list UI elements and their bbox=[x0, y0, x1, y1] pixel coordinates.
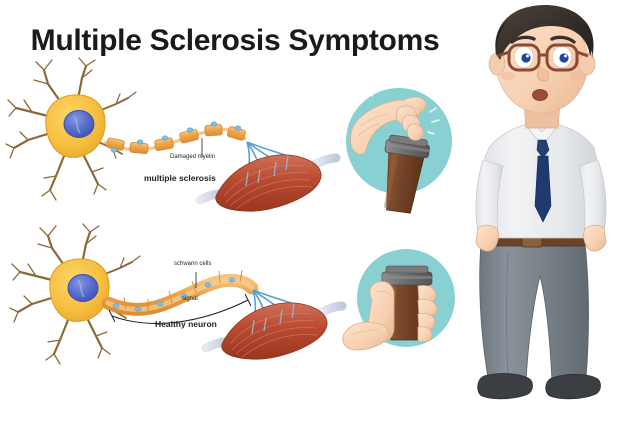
holding-cup-illustration bbox=[343, 249, 455, 350]
man-character bbox=[476, 5, 606, 399]
artwork-svg bbox=[0, 0, 626, 428]
dropping-cup-illustration bbox=[346, 88, 452, 215]
muscle-fiber-ms bbox=[200, 155, 336, 211]
left-pupil bbox=[521, 53, 530, 62]
nucleus-ms bbox=[64, 111, 94, 138]
right-hand bbox=[584, 225, 606, 251]
healthy-myelin bbox=[108, 270, 252, 312]
signal-label: signal bbox=[182, 296, 198, 302]
trousers bbox=[480, 243, 589, 382]
healthy-neuron-caption: Healthy neuron bbox=[155, 319, 217, 329]
left-shoe bbox=[478, 374, 533, 399]
nucleus-healthy bbox=[68, 275, 98, 302]
ms-neuron-group bbox=[6, 58, 336, 211]
mouth bbox=[533, 90, 548, 101]
right-pupil bbox=[559, 53, 568, 62]
illustration-canvas: Multiple Sclerosis Symptoms bbox=[0, 0, 626, 428]
left-ear bbox=[489, 53, 505, 75]
ms-caption: multiple sclerosis bbox=[144, 173, 216, 183]
schwann-cells-label: schwann cells bbox=[174, 261, 211, 267]
healthy-neuron-group bbox=[10, 224, 342, 364]
damaged-myelin-label: Damaged myelin bbox=[170, 154, 215, 160]
damaged-myelin bbox=[104, 122, 246, 154]
right-shoe bbox=[546, 374, 601, 399]
left-hand bbox=[476, 225, 498, 251]
muscle-fiber-healthy bbox=[206, 303, 342, 359]
